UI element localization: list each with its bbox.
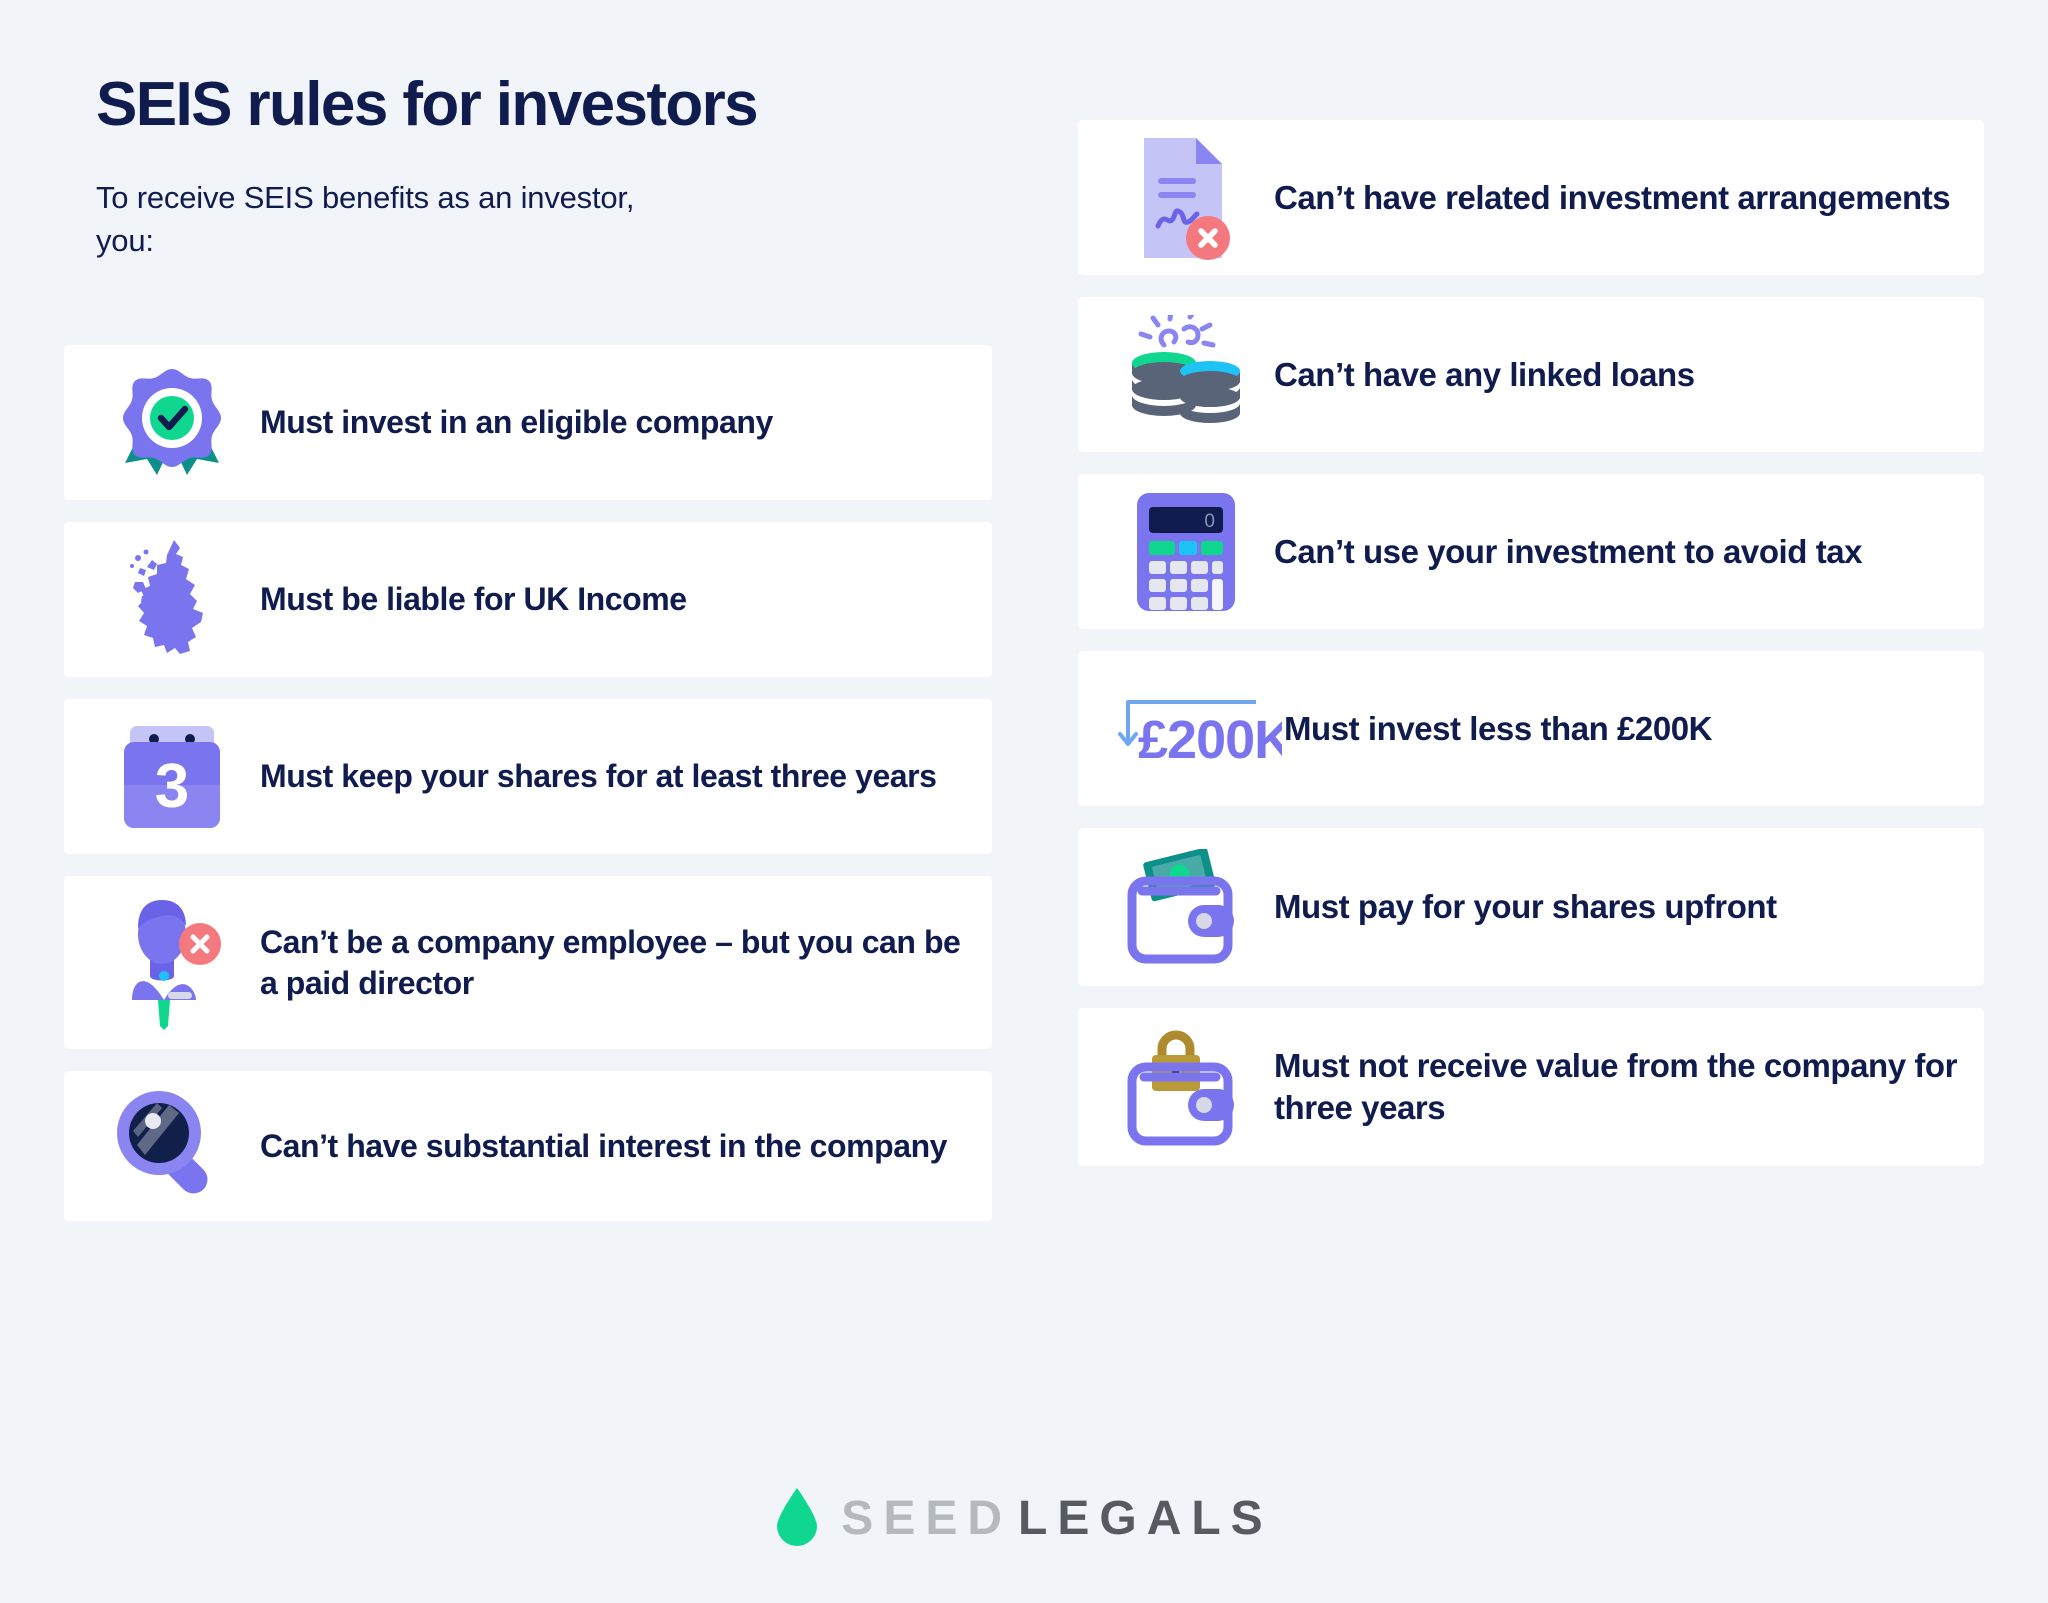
logo-text-legals: LEGALS (1018, 1491, 1273, 1546)
rule-card-label: Can’t have any linked loans (1274, 354, 1695, 396)
footer-logo: SEED LEGALS (0, 1486, 2048, 1551)
rule-card-linked-loans: Can’t have any linked loans (1078, 297, 1984, 452)
rule-card-label: Must pay for your shares upfront (1274, 886, 1777, 928)
rule-card-avoid-tax: 0 (1078, 474, 1984, 629)
rule-card-no-employee: Can’t be a company employee – but you ca… (64, 876, 992, 1049)
rule-card-no-value-received: Must not receive value from the company … (1078, 1008, 1984, 1166)
droplet-icon (775, 1486, 819, 1551)
rule-card-label: Can’t have related investment arrangemen… (1274, 177, 1950, 219)
rule-card-investment-limit: £200K Must invest less than £200K (1078, 651, 1984, 806)
magnifier-icon (98, 1081, 246, 1211)
rule-card-label: Can’t use your investment to avoid tax (1274, 531, 1862, 573)
award-badge-icon (98, 358, 246, 488)
rule-card-label: Must keep your shares for at least three… (260, 756, 937, 796)
page-title: SEIS rules for investors (96, 70, 1016, 139)
rule-card-label: Must be liable for UK Income (260, 579, 687, 619)
amount-limit-icon: £200K (1112, 664, 1284, 794)
uk-map-icon (98, 535, 246, 665)
rule-card-label: Must invest less than £200K (1284, 708, 1712, 750)
logo-text-seed: SEED (841, 1491, 1012, 1546)
document-rejected-icon (1112, 133, 1260, 263)
right-column: Can’t have related investment arrangemen… (1078, 120, 1984, 1166)
infographic-page: SEIS rules for investors To receive SEIS… (0, 0, 2048, 1603)
header: SEIS rules for investors To receive SEIS… (96, 70, 1016, 263)
coins-broken-link-icon (1112, 310, 1260, 440)
svg-text:£200K: £200K (1138, 710, 1282, 770)
rule-card-related-arrangements: Can’t have related investment arrangemen… (1078, 120, 1984, 275)
rule-card-substantial-interest: Can’t have substantial interest in the c… (64, 1071, 992, 1221)
rule-card-eligible-company: Must invest in an eligible company (64, 345, 992, 500)
calendar-three-icon: 3 (98, 712, 246, 842)
calculator-icon: 0 (1112, 487, 1260, 617)
wallet-cash-icon (1112, 842, 1260, 972)
svg-text:3: 3 (155, 752, 189, 821)
left-column: Must invest in an eligible company (64, 345, 992, 1221)
rule-card-pay-upfront: Must pay for your shares upfront (1078, 828, 1984, 986)
rule-card-label: Can’t be a company employee – but you ca… (260, 922, 966, 1003)
employee-blocked-icon (98, 898, 246, 1028)
rule-card-label: Must not receive value from the company … (1274, 1045, 1958, 1128)
page-subtitle: To receive SEIS benefits as an investor,… (96, 177, 676, 263)
svg-text:0: 0 (1204, 511, 1215, 532)
rule-card-three-years: 3 Must keep your shares for at least thr… (64, 699, 992, 854)
rule-card-label: Must invest in an eligible company (260, 402, 773, 442)
wallet-locked-icon (1112, 1022, 1260, 1152)
rule-card-label: Can’t have substantial interest in the c… (260, 1126, 947, 1166)
rule-card-uk-income: Must be liable for UK Income (64, 522, 992, 677)
